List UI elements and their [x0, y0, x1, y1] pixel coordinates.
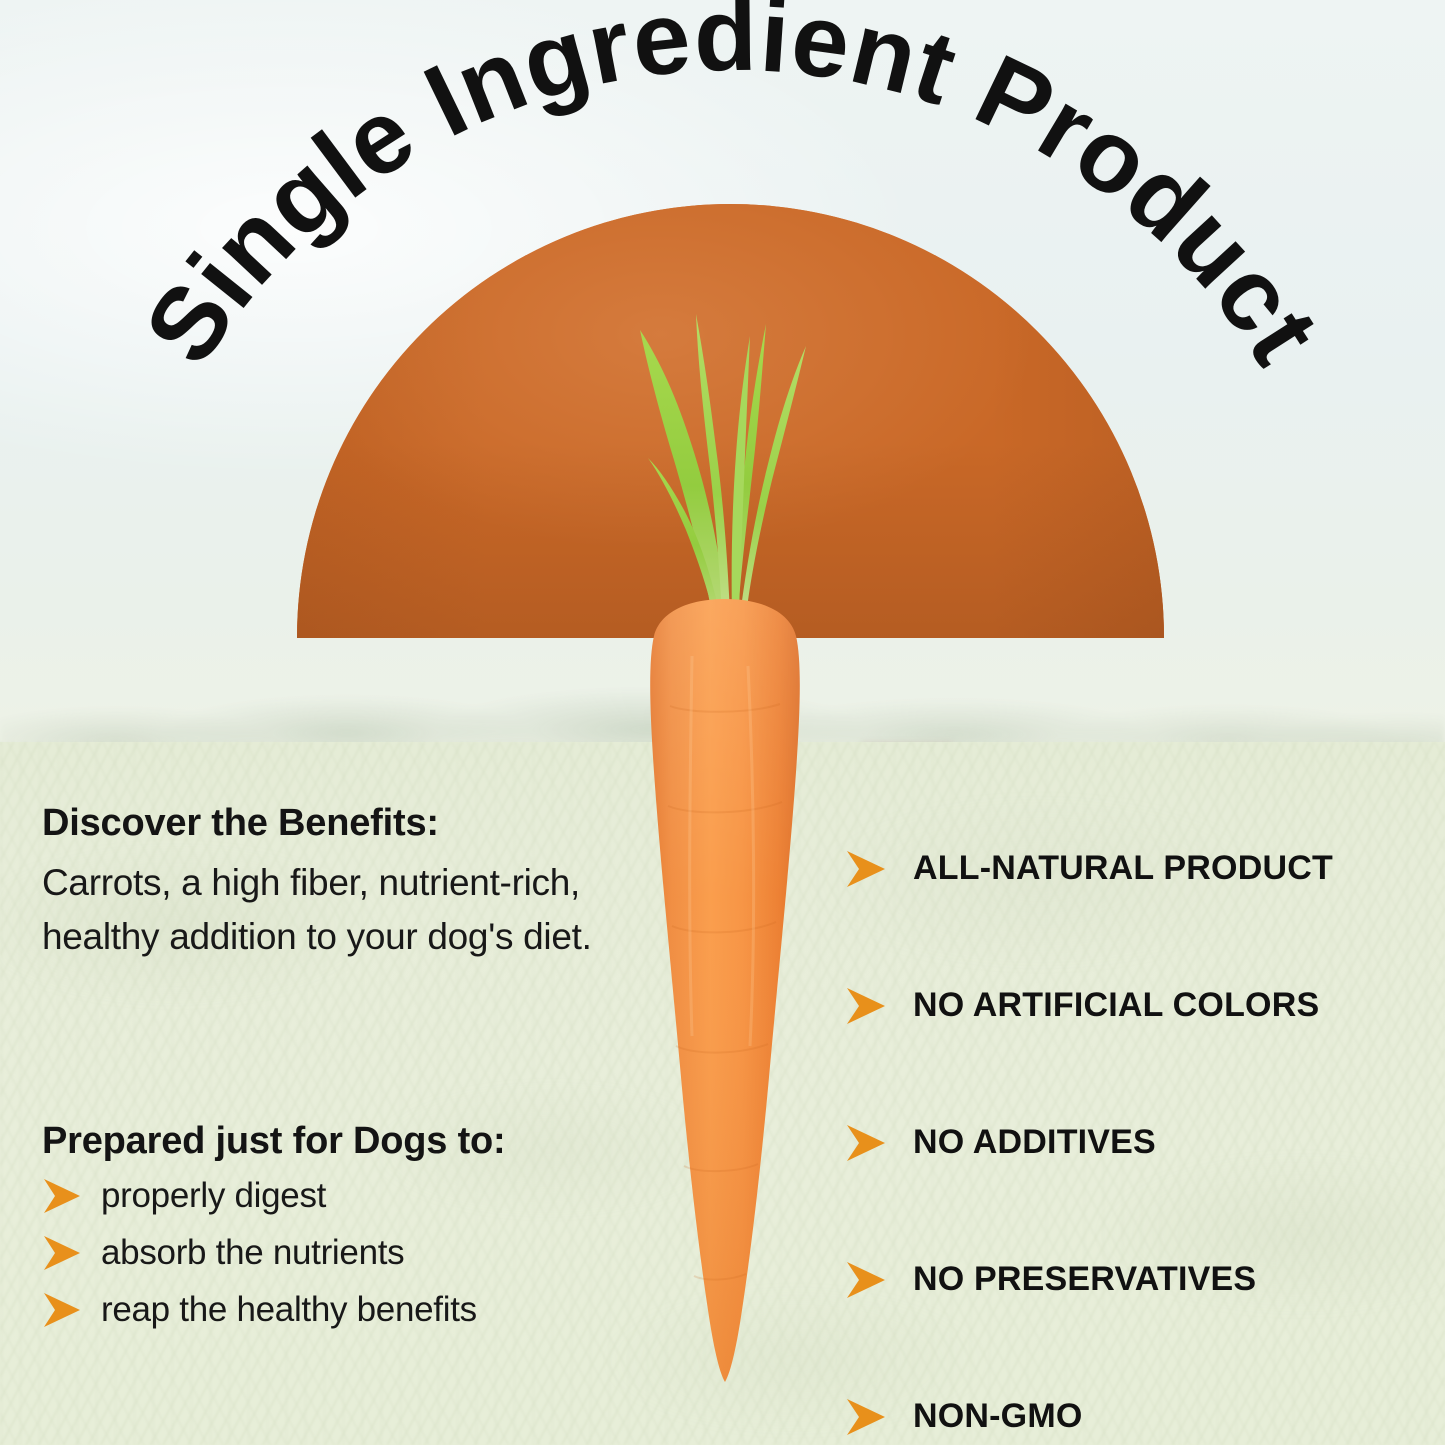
list-item: NO PRESERVATIVES: [845, 1211, 1445, 1348]
infographic-canvas: Single Ingredient Product Discover the B…: [0, 0, 1445, 1445]
claims-list: ALL-NATURAL PRODUCT NO ARTIFICIAL COLORS…: [845, 800, 1445, 1445]
list-item: NON-GMO: [845, 1348, 1445, 1445]
headline-text: Single Ingredient Product: [122, 0, 1342, 383]
prepared-heading: Prepared just for Dogs to:: [42, 1118, 642, 1166]
prepared-item-label: absorb the nutrients: [101, 1233, 404, 1273]
benefits-heading: Discover the Benefits:: [42, 800, 642, 848]
prepared-list: properly digest absorb the nutrients rea…: [42, 1176, 642, 1330]
list-item: reap the healthy benefits: [42, 1290, 642, 1330]
arrow-bullet-icon: [42, 1234, 82, 1272]
claim-label: NO PRESERVATIVES: [913, 1260, 1256, 1299]
arrow-bullet-icon: [845, 1260, 887, 1300]
arrow-bullet-icon: [42, 1291, 82, 1329]
headline-tspan: Single Ingredient Product: [122, 0, 1342, 383]
arrow-bullet-icon: [845, 986, 887, 1026]
list-item: ALL-NATURAL PRODUCT: [845, 800, 1445, 937]
arrow-bullet-icon: [845, 849, 887, 889]
list-item: NO ADDITIVES: [845, 1074, 1445, 1211]
benefits-body: Carrots, a high fiber, nutrient-rich, he…: [42, 856, 642, 964]
arrow-bullet-icon: [845, 1123, 887, 1163]
benefits-block: Discover the Benefits: Carrots, a high f…: [42, 800, 642, 964]
list-item: absorb the nutrients: [42, 1233, 642, 1273]
claim-label: NO ADDITIVES: [913, 1123, 1156, 1162]
prepared-item-label: properly digest: [101, 1176, 326, 1216]
claim-label: ALL-NATURAL PRODUCT: [913, 849, 1333, 888]
claim-label: NON-GMO: [913, 1397, 1083, 1436]
claim-label: NO ARTIFICIAL COLORS: [913, 986, 1319, 1025]
headline-arc: Single Ingredient Product: [0, 0, 1445, 720]
list-item: NO ARTIFICIAL COLORS: [845, 937, 1445, 1074]
claims-block: ALL-NATURAL PRODUCT NO ARTIFICIAL COLORS…: [845, 800, 1445, 1445]
arrow-bullet-icon: [845, 1397, 887, 1437]
list-item: properly digest: [42, 1176, 642, 1216]
arrow-bullet-icon: [42, 1177, 82, 1215]
prepared-block: Prepared just for Dogs to: properly dige…: [42, 1118, 642, 1347]
prepared-item-label: reap the healthy benefits: [101, 1290, 477, 1330]
